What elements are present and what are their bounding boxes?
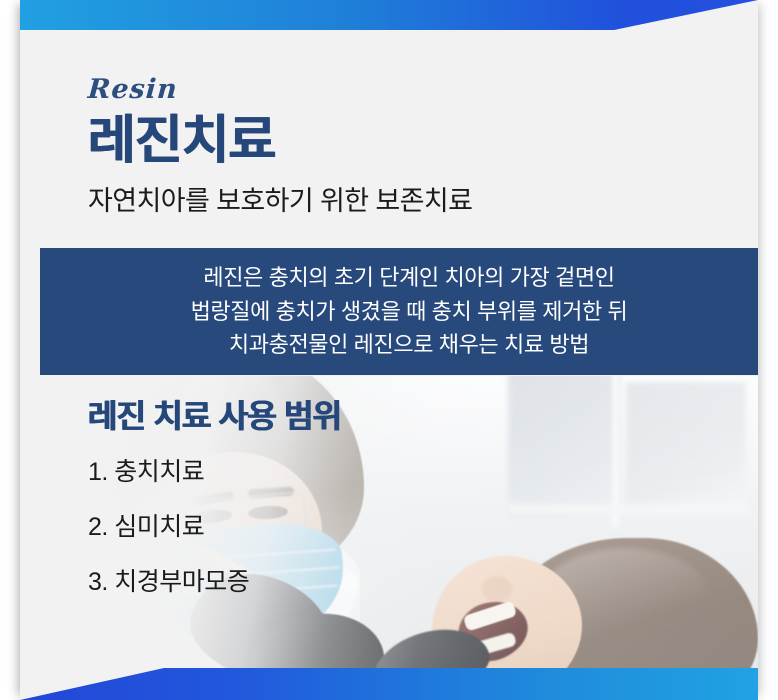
infographic-page: Resin 레진치료 자연치아를 보호하기 위한 보존치료 레진은 충치의 초기… xyxy=(0,0,778,700)
usage-heading: 레진 치료 사용 범위 xyxy=(88,400,341,432)
list-item: 3. 치경부마모증 xyxy=(88,570,341,595)
description-text: 레진은 충치의 초기 단계인 치아의 가장 겉면인 법랑질에 충치가 생겼을 때… xyxy=(40,261,758,361)
content-card: Resin 레진치료 자연치아를 보호하기 위한 보존치료 레진은 충치의 초기… xyxy=(20,0,758,700)
usage-section: 레진 치료 사용 범위 1. 충치치료 2. 심미치료 3. 치경부마모증 xyxy=(88,400,341,595)
usage-list: 1. 충치치료 2. 심미치료 3. 치경부마모증 xyxy=(88,460,341,595)
description-strip: 레진은 충치의 초기 단계인 치아의 가장 겉면인 법랑질에 충치가 생겼을 때… xyxy=(40,248,758,375)
description-line: 법랑질에 충치가 생겼을 때 충치 부위를 제거한 뒤 xyxy=(40,295,758,328)
page-subtitle: 자연치아를 보호하기 위한 보존치료 xyxy=(88,185,472,217)
list-item: 2. 심미치료 xyxy=(88,515,341,540)
description-line: 치과충전물인 레진으로 채우는 치료 방법 xyxy=(40,328,758,361)
page-title: 레진치료 xyxy=(88,115,472,168)
list-item: 1. 충치치료 xyxy=(88,460,341,485)
description-line: 레진은 충치의 초기 단계인 치아의 가장 겉면인 xyxy=(40,261,758,294)
header-block: Resin 레진치료 자연치아를 보호하기 위한 보존치료 xyxy=(88,76,472,217)
eyebrow-label: Resin xyxy=(87,76,473,103)
